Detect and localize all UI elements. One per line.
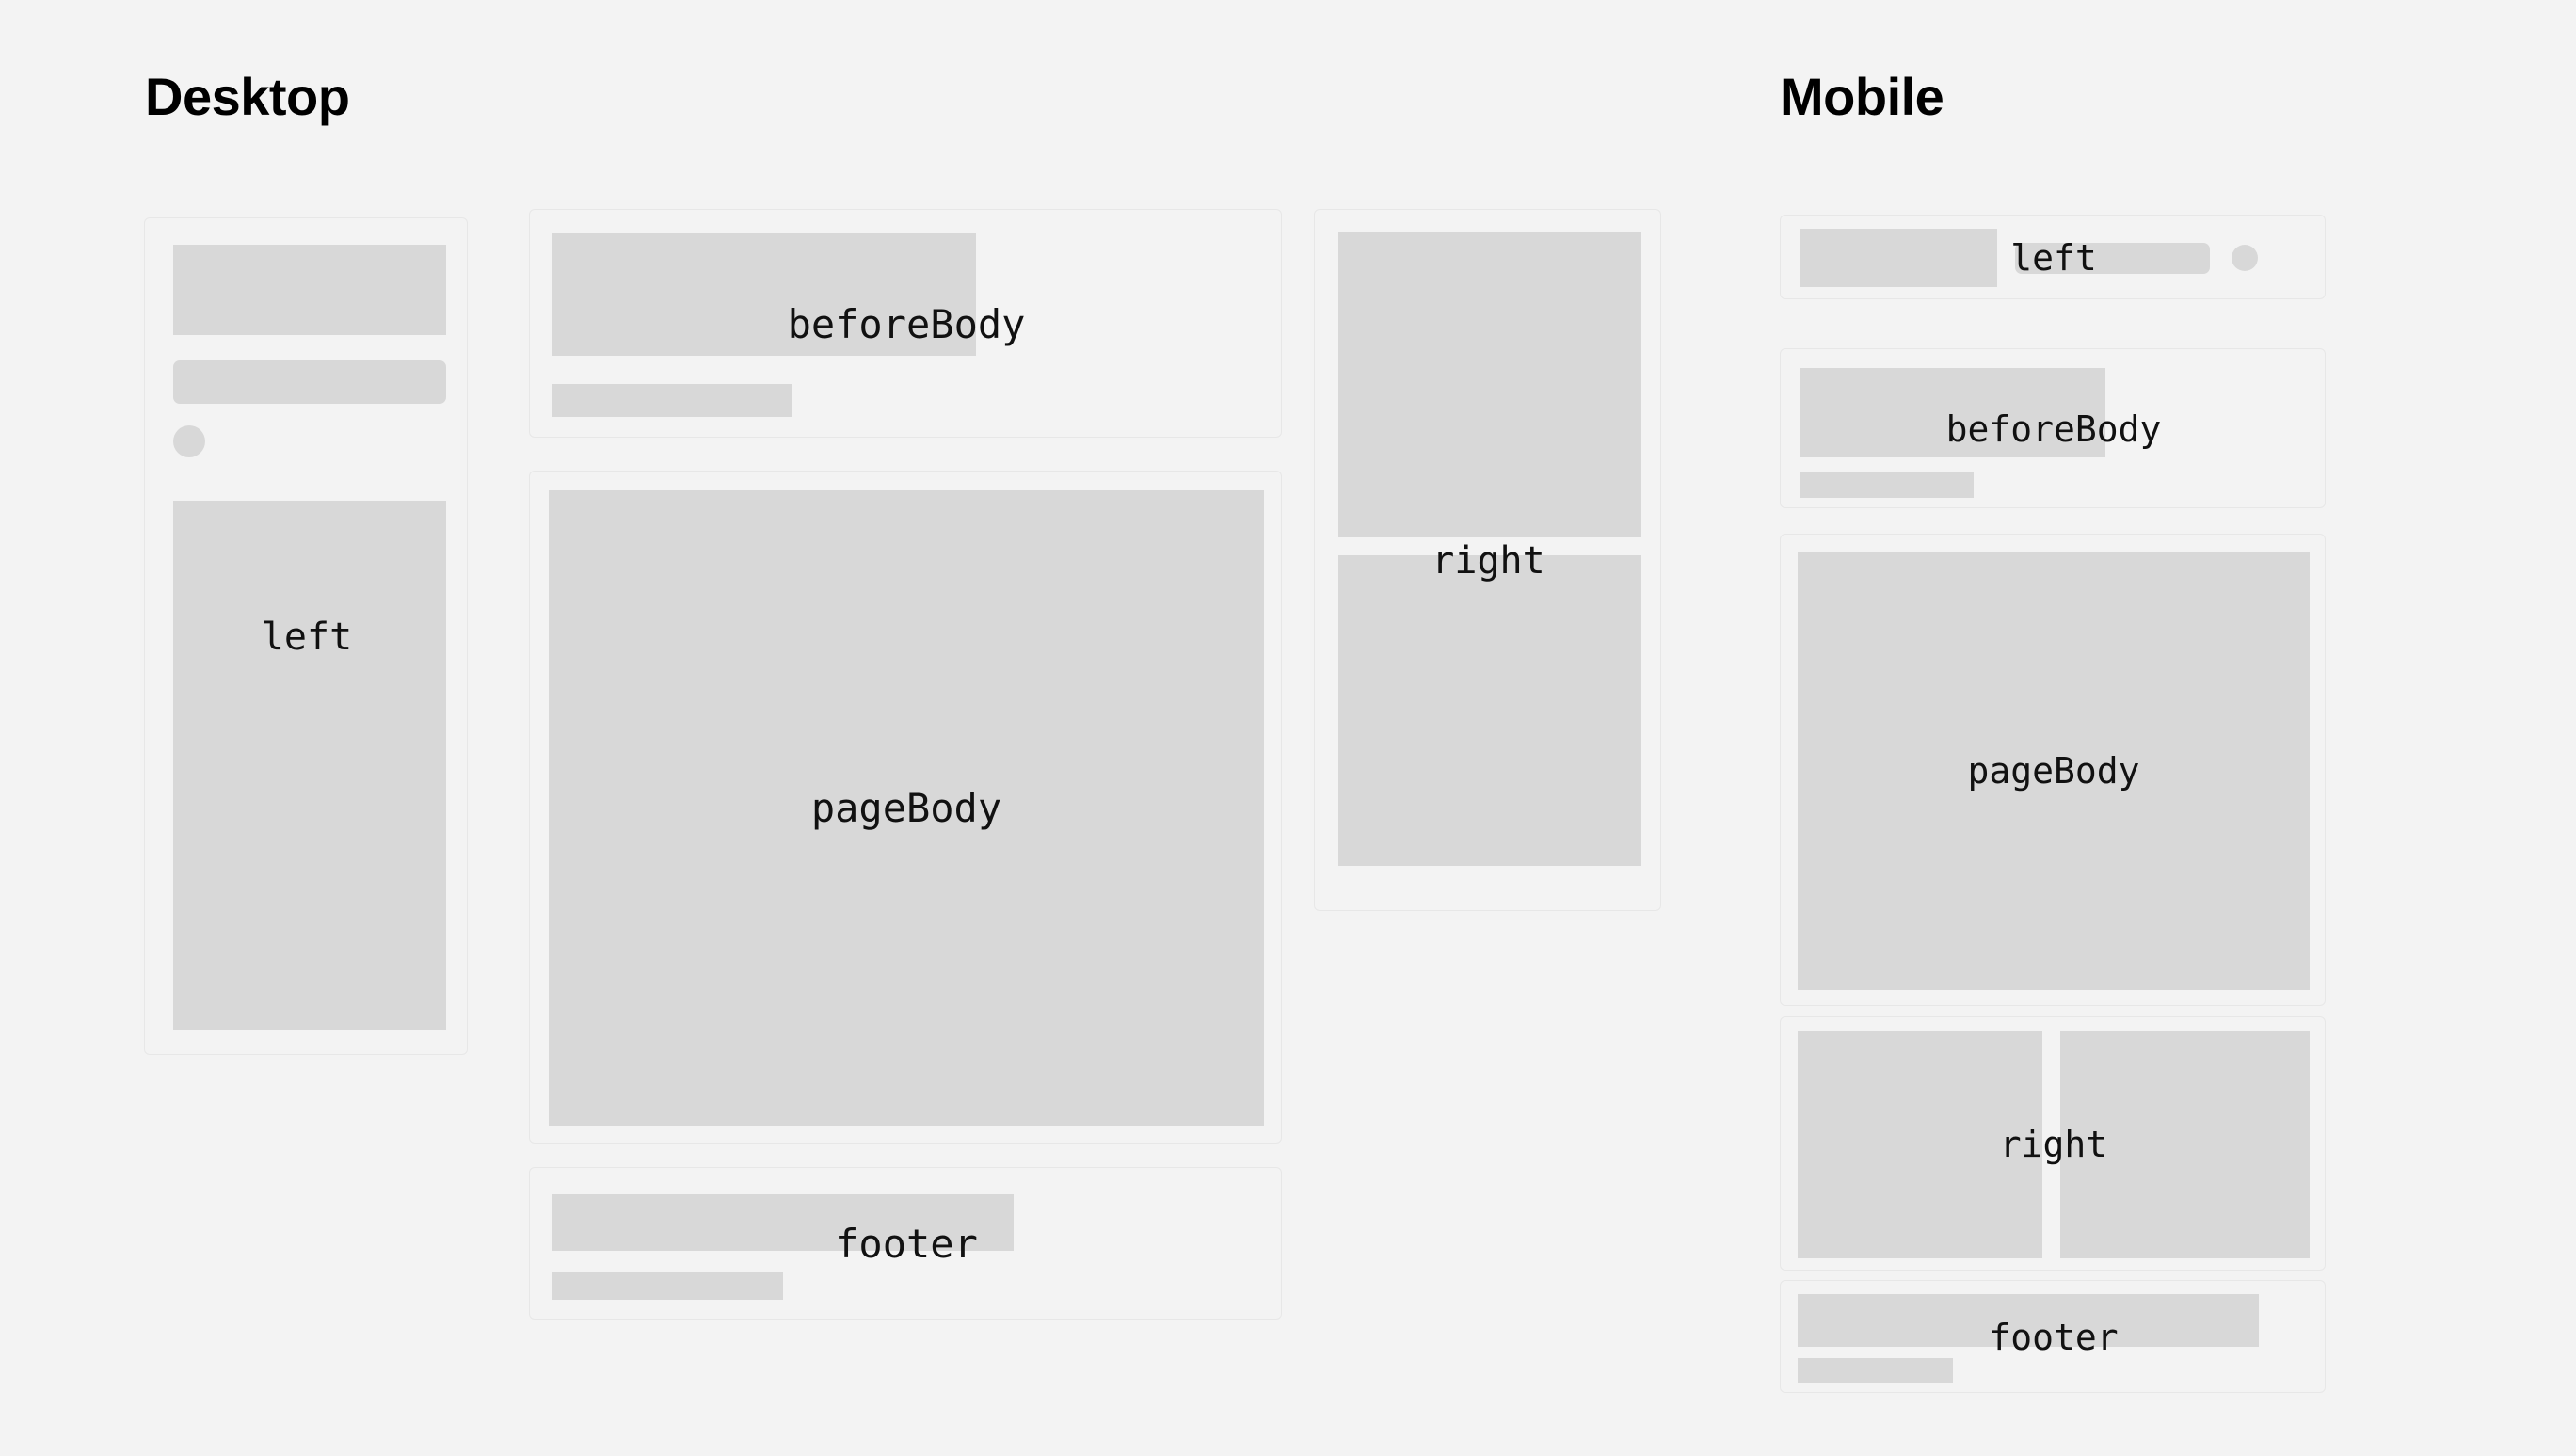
placeholder-circle [2232,245,2258,271]
desktop-beforebody-slot-panel[interactable]: beforeBody [529,209,1282,438]
mobile-footer-slot-panel[interactable]: footer [1780,1280,2326,1393]
placeholder-block [552,1194,1014,1251]
desktop-right-slot-panel[interactable]: right [1314,209,1661,911]
desktop-footer-slot-panel[interactable]: footer [529,1167,1282,1320]
desktop-pagebody-slot-panel[interactable]: pageBody [529,471,1282,1144]
layout-preview-canvas: Desktop Mobile left beforeBody pageBody … [0,0,2576,1456]
placeholder-circle [173,425,205,457]
placeholder-block-small [1798,1358,1953,1383]
placeholder-block [552,233,976,356]
placeholder-pill [2015,243,2210,274]
placeholder-block-tall [173,501,446,1030]
placeholder-block [1338,555,1641,866]
placeholder-block [1800,368,2105,457]
mobile-section-heading: Mobile [1780,71,1944,123]
mobile-left-slot-panel[interactable]: left [1780,215,2326,299]
mobile-right-slot-panel[interactable]: right [1780,1016,2326,1271]
mobile-beforebody-slot-panel[interactable]: beforeBody [1780,348,2326,508]
placeholder-block [2060,1031,2310,1258]
placeholder-block-small [552,1272,783,1300]
mobile-pagebody-slot-panel[interactable]: pageBody [1780,534,2326,1006]
placeholder-block-small [1800,472,1974,498]
placeholder-block [173,245,446,335]
placeholder-block-large [1798,552,2310,990]
placeholder-block [1798,1294,2259,1347]
placeholder-block [1338,232,1641,537]
placeholder-block-large [549,490,1264,1126]
placeholder-block-small [552,384,792,417]
placeholder-block [1798,1031,2042,1258]
desktop-left-slot-panel[interactable]: left [144,217,468,1055]
placeholder-pill [173,360,446,404]
placeholder-block [1800,229,1997,287]
desktop-section-heading: Desktop [145,71,349,123]
